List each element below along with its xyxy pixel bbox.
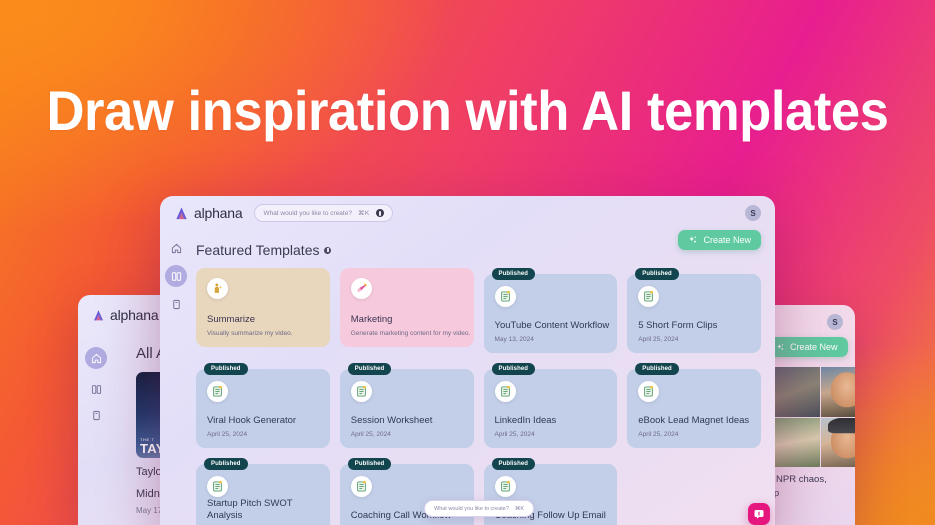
floating-search-shortcut: ⌘K — [515, 506, 524, 512]
template-card-title: Session Worksheet — [351, 415, 433, 426]
status-badge: Published — [348, 458, 392, 470]
status-badge: Published — [204, 363, 248, 375]
template-card-subtitle: April 25, 2024 — [495, 431, 535, 439]
template-card-subtitle: April 25, 2024 — [638, 431, 678, 439]
sidebar-item-assets[interactable] — [90, 409, 102, 421]
template-card-grid: SummarizeVisually summarize my video.Mar… — [196, 268, 761, 525]
sparkle-icon — [776, 343, 785, 352]
face-figure — [831, 422, 855, 458]
template-card-title: Startup Pitch SWOT Analysis — [207, 498, 330, 521]
floating-search-placeholder: What would you like to create? — [434, 506, 509, 512]
template-card[interactable]: PublishedSession WorksheetApril 25, 2024 — [340, 369, 474, 448]
status-badge: Published — [492, 363, 536, 375]
video-thumbnail — [821, 418, 856, 468]
template-card[interactable]: PublishedeBook Lead Magnet IdeasApril 25… — [627, 369, 761, 448]
template-card[interactable]: PublishedStartup Pitch SWOT AnalysisApri… — [196, 464, 330, 525]
document-icon — [638, 286, 659, 307]
status-badge: Published — [348, 363, 392, 375]
video-thumbnail — [821, 367, 856, 417]
template-card[interactable]: SummarizeVisually summarize my video. — [196, 268, 330, 347]
video-caption-row: s, NPR chaos, tup ⋮ — [766, 473, 855, 502]
left-window-brand: alphana — [110, 307, 158, 323]
search-input[interactable]: What would you like to create? ⌘K — [254, 204, 392, 222]
hat-shape — [828, 418, 855, 434]
template-card-subtitle: Visually summarize my video. — [207, 330, 293, 338]
search-avatar-icon — [376, 209, 384, 217]
document-icon — [351, 381, 372, 402]
status-badge: Published — [635, 363, 679, 375]
main-window-logo: alphana — [174, 205, 242, 221]
main-window-brand: alphana — [194, 205, 242, 221]
person-idea-icon — [207, 278, 228, 299]
video-caption-line1: s, NPR chaos, — [766, 473, 827, 487]
document-icon — [207, 476, 228, 497]
megaphone-icon — [351, 278, 372, 299]
document-icon — [495, 476, 516, 497]
section-header: Featured Templates — [196, 242, 761, 258]
template-card[interactable]: PublishedLinkedIn IdeasApril 25, 2024 — [484, 369, 618, 448]
create-new-label: Create New — [790, 342, 838, 352]
left-window-rail — [78, 335, 114, 525]
sidebar-item-assets[interactable] — [170, 298, 182, 310]
info-icon[interactable] — [324, 247, 331, 254]
alphana-mark-icon — [174, 206, 189, 221]
main-window[interactable]: alphana What would you like to create? ⌘… — [160, 196, 775, 525]
main-window-rail — [160, 230, 192, 525]
template-card-subtitle: April 25, 2024 — [638, 336, 678, 344]
video-thumbnail-grid[interactable] — [766, 367, 855, 467]
document-icon — [351, 476, 372, 497]
status-badge: Published — [204, 458, 248, 470]
section-title: Featured Templates — [196, 242, 319, 258]
sidebar-item-templates[interactable] — [90, 383, 102, 395]
template-card-title: Viral Hook Generator — [207, 415, 296, 426]
create-new-button[interactable]: Create New — [766, 337, 848, 357]
template-card-title: YouTube Content Workflow — [495, 320, 610, 331]
avatar[interactable]: S — [827, 314, 843, 330]
template-card[interactable]: PublishedYouTube Content WorkflowMay 13,… — [484, 274, 618, 353]
chat-bubble-icon[interactable] — [748, 503, 770, 525]
document-icon — [207, 381, 228, 402]
main-window-topbar: alphana What would you like to create? ⌘… — [160, 196, 775, 230]
sidebar-item-home[interactable] — [85, 347, 107, 369]
avatar[interactable]: S — [745, 205, 761, 221]
search-shortcut: ⌘K — [358, 209, 370, 217]
status-badge: Published — [492, 268, 536, 280]
floating-search-input[interactable]: What would you like to create? ⌘K — [424, 500, 534, 517]
template-card-title: Marketing — [351, 314, 393, 325]
document-icon — [495, 381, 516, 402]
alphana-mark-icon — [92, 309, 105, 322]
video-caption-line2: tup — [766, 487, 827, 501]
template-card-subtitle: Generate marketing content for my video. — [351, 330, 471, 338]
sidebar-item-home[interactable] — [170, 242, 182, 254]
template-card[interactable]: MarketingGenerate marketing content for … — [340, 268, 474, 347]
status-badge: Published — [492, 458, 536, 470]
template-card-subtitle: April 25, 2024 — [351, 431, 391, 439]
status-badge: Published — [635, 268, 679, 280]
template-card-subtitle: April 25, 2024 — [207, 431, 247, 439]
face-figure — [831, 372, 855, 408]
template-card-subtitle: May 13, 2024 — [495, 336, 534, 344]
template-card-title: Summarize — [207, 314, 255, 325]
template-card[interactable]: Published5 Short Form ClipsApril 25, 202… — [627, 274, 761, 353]
document-icon — [638, 381, 659, 402]
page-title: Draw inspiration with AI templates — [28, 78, 907, 143]
main-window-content: Featured Templates SummarizeVisually sum… — [192, 230, 775, 525]
sidebar-item-templates[interactable] — [165, 265, 187, 287]
template-card-title: 5 Short Form Clips — [638, 320, 717, 331]
left-window-logo: alphana — [92, 307, 158, 323]
template-card-title: eBook Lead Magnet Ideas — [638, 415, 749, 426]
template-card[interactable]: PublishedViral Hook GeneratorApril 25, 2… — [196, 369, 330, 448]
search-placeholder: What would you like to create? — [263, 210, 352, 217]
template-card-title: LinkedIn Ideas — [495, 415, 557, 426]
document-icon — [495, 286, 516, 307]
